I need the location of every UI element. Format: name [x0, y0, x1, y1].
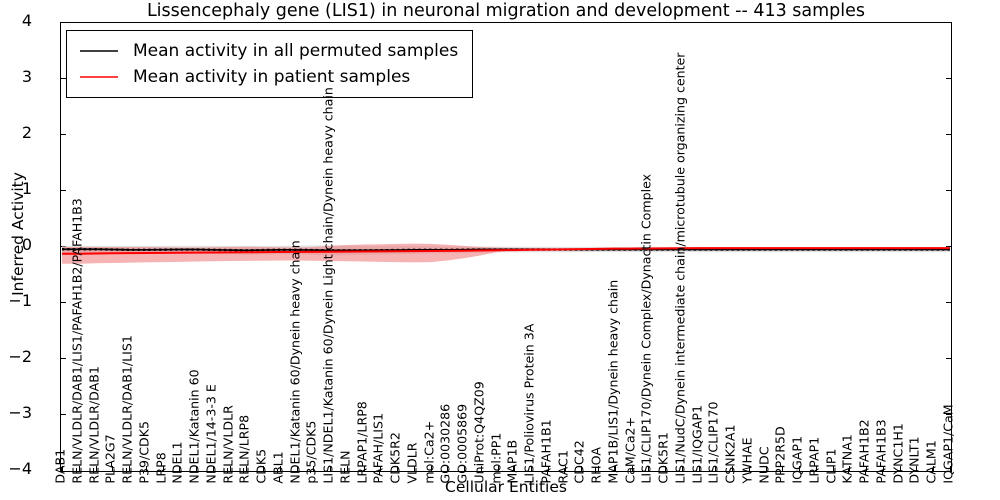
x-axis-tick-label: RELN/VLDLR/DAB1: [88, 366, 101, 483]
x-axis-tick-label: CaM/Ca2+: [624, 417, 637, 484]
x-axis-tick-label: CDK5R2: [390, 432, 403, 484]
x-axis-tick-label: YWHAE: [741, 437, 754, 483]
x-axis-tick-label: P39/CDK5: [138, 421, 151, 484]
x-axis-tick-label: LRP8: [155, 452, 168, 483]
x-axis-tick-label: p35/CDK5: [306, 421, 319, 484]
x-axis-tick-label: LIS1/NDEL1/Katanin 60/Dynein Light chain…: [322, 87, 335, 483]
x-axis-tick-label: LIS1/CLIP170: [708, 401, 721, 483]
x-axis-tick-label: DAB1: [54, 449, 67, 484]
x-axis-tick-label: CLIP1: [825, 448, 838, 483]
x-axis-tick-label: DYNC1H1: [892, 423, 905, 483]
x-axis-tick-label: mol:PP1: [490, 433, 503, 484]
x-axis-tick-label: NDEL1/Katanin 60/Dynein heavy chain: [289, 240, 302, 483]
x-axis-tick-label: VLDLR: [406, 442, 419, 483]
x-axis-tick-label: RELN/VLDLR/DAB1/LIS1: [121, 335, 134, 483]
x-axis-tick-label: CDK5R1: [658, 432, 671, 484]
x-axis-tick-label: RELN: [339, 450, 352, 483]
x-axis-tick-label: PLA2G7: [105, 434, 118, 483]
x-axis-tick-label: KATNA1: [842, 434, 855, 483]
x-axis-tick-label: NDEL1: [172, 441, 185, 483]
x-axis-tick-label: RELN/VLDLR/DAB1/LIS1/PAFAH1B2/PAFAH1B3: [71, 198, 84, 483]
x-axis-tick-label: PAFAH1B2: [859, 419, 872, 483]
x-axis-tick-label: NDEL1/Katanin 60: [188, 369, 201, 483]
x-axis-tick-label: LRPAP1/LRP8: [356, 401, 369, 483]
chart-figure: Lissencephaly gene (LIS1) in neuronal mi…: [0, 0, 1000, 500]
x-axis-tick-label: PPP2R5D: [775, 426, 788, 483]
x-axis-tick-label: MAP1B: [507, 440, 520, 484]
x-axis-tick-label: CSNK2A1: [725, 424, 738, 483]
x-axis-tick-label: UniProt:Q4QZ09: [473, 381, 486, 483]
x-axis-tick-label: RELN/VLDLR: [222, 405, 235, 483]
x-axis-tick-label: GO:0030286: [440, 404, 453, 484]
x-axis-tick-label: CDK5: [255, 449, 268, 484]
x-axis-tick-label: mol:Ca2+: [423, 421, 436, 484]
x-axis-tick-label: GO:0005869: [457, 404, 470, 484]
x-axis-tick-label: NUDC: [758, 446, 771, 483]
x-axis-tick-label: LIS1/IQGAP1: [691, 405, 704, 484]
x-axis-tick-label: DYNLT1: [909, 436, 922, 483]
x-axis-tick-label: NDEL1/14-3-3 E: [205, 384, 218, 483]
x-axis-tick-label: ABL1: [272, 451, 285, 483]
x-axis-tick-label: PAFAH1B3: [875, 419, 888, 483]
x-axis-tick-label: MAP1B/LIS1/Dynein heavy chain: [607, 280, 620, 484]
x-axis-tick-label: IQGAP1: [792, 436, 805, 484]
x-axis-tick-label: CDC42: [574, 440, 587, 483]
x-axis-tick-label: PAFAH/LIS1: [373, 413, 386, 484]
x-axis-tick-label: RELN/LRP8: [239, 415, 252, 484]
x-axis-tick-label: RHOA: [591, 447, 604, 484]
x-axis-tick-label: CALM1: [926, 440, 939, 483]
x-axis-tick-label: PAFAH1B1: [540, 419, 553, 483]
x-axis-tick-layer: DAB1RELN/VLDLR/DAB1/LIS1/PAFAH1B2/PAFAH1…: [0, 0, 1000, 500]
x-axis-tick-label: LIS1/NudC/Dynein intermediate chain/micr…: [674, 53, 687, 484]
x-axis-tick-label: RAC1: [557, 450, 570, 483]
x-axis-tick-label: LIS1/CLIP170/Dynein Complex/Dynactin Com…: [641, 174, 654, 484]
x-axis-tick-label: IQGAP1/CaM: [942, 404, 955, 483]
x-axis-tick-label: LIS1/Poliovirus Protein 3A: [524, 324, 537, 484]
x-axis-tick-label: LRPAP1: [808, 437, 821, 484]
